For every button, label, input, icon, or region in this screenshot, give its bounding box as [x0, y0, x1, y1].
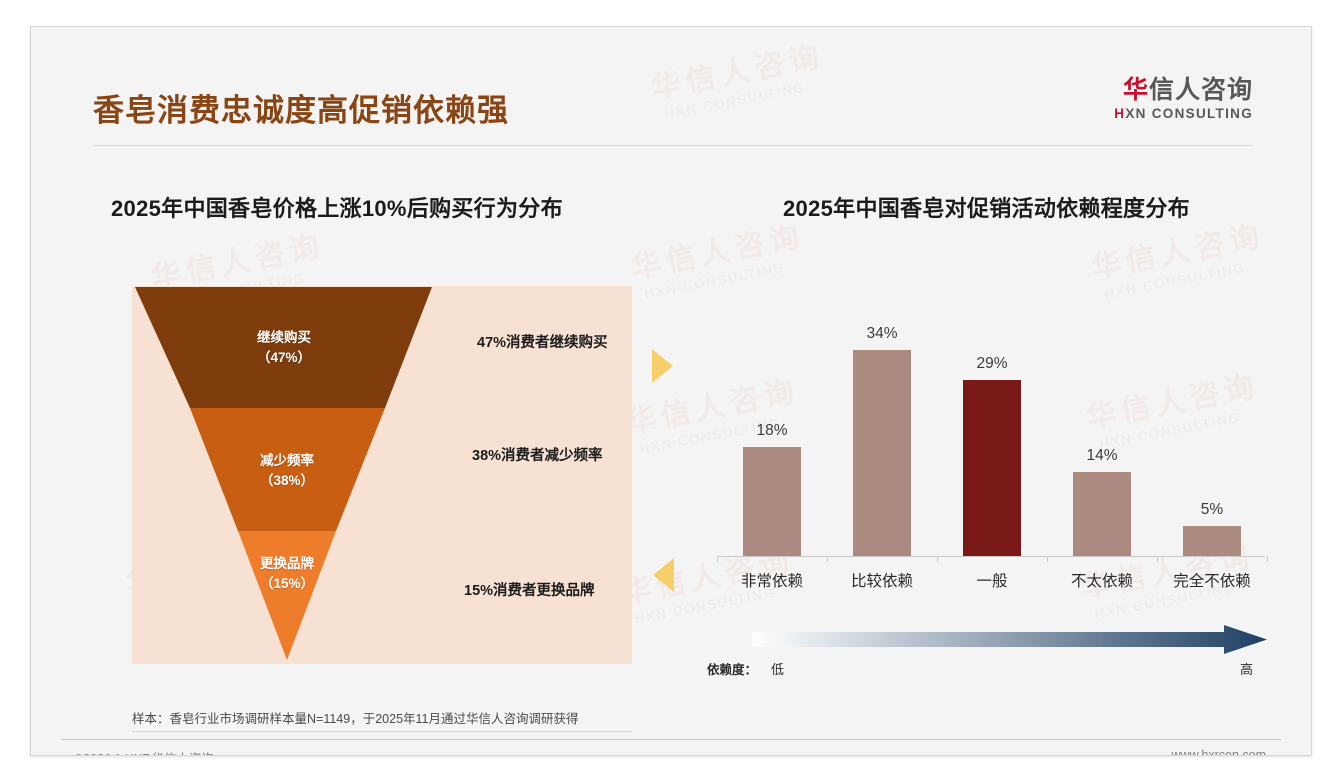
left-chart-title: 2025年中国香皂价格上涨10%后购买行为分布 [111, 191, 563, 223]
legend-low-label: 低 [771, 659, 784, 678]
dependency-bar-chart: 18%34%29%14%5% 非常依赖比较依赖一般不太依赖完全不依赖 [707, 313, 1267, 603]
watermark: 华信人咨询 HXN CONSULTING [647, 31, 830, 123]
legend-high-label: 高 [1240, 659, 1253, 678]
right-chart-title: 2025年中国香皂对促销活动依赖程度分布 [783, 191, 1190, 223]
logo-en-rest: XN CONSULTING [1125, 106, 1253, 121]
bar-value-label: 29% [976, 355, 1007, 373]
x-axis-tick [937, 556, 938, 562]
watermark-en: HXN CONSULTING [643, 255, 810, 302]
bar-column: 5% [1157, 313, 1267, 557]
funnel-note-continue: 47%消费者继续购买 [477, 331, 608, 352]
funnel-segment-switch [238, 531, 336, 660]
footer-website: www.hxrcon.com [1172, 748, 1266, 756]
x-axis-tick [1267, 556, 1268, 562]
logo-cn-accent-char: 华 [1123, 76, 1149, 104]
footer-copyright: ©2026.1 HXR华信人咨询 [74, 748, 214, 756]
x-axis-label-一般: 一般 [932, 569, 1052, 591]
funnel-label-text: 减少频率 [187, 451, 387, 471]
legend-title: 依赖度： [707, 659, 757, 678]
x-axis-label-比较依赖: 比较依赖 [822, 569, 942, 591]
watermark-en: HXN CONSULTING [663, 75, 830, 122]
watermark-en: HXN CONSULTING [1103, 255, 1270, 302]
x-axis-tick [1047, 556, 1048, 562]
bar-完全不依赖[interactable] [1183, 526, 1241, 557]
funnel-label-value: （38%） [187, 471, 387, 491]
funnel-label-switch: 更换品牌 （15%） [187, 554, 387, 593]
x-axis-tick [1157, 556, 1158, 562]
watermark-cn: 华信人咨询 [647, 31, 827, 108]
funnel-label-value: （47%） [184, 348, 384, 368]
header-divider [93, 145, 1253, 146]
footnote-divider [132, 731, 632, 732]
watermark-cn: 华信人咨询 [627, 211, 807, 288]
funnel-label-reduce: 减少频率 （38%） [187, 451, 387, 490]
company-logo: 华信人咨询 HXN CONSULTING [1114, 77, 1253, 121]
watermark: 华信人咨询 HXN CONSULTING [627, 211, 810, 303]
arrow-right-icon [652, 349, 673, 383]
funnel-label-text: 继续购买 [184, 328, 384, 348]
x-axis-tick [827, 556, 828, 562]
page-title: 香皂消费忠诚度高促销依赖强 [93, 85, 509, 130]
bar-比较依赖[interactable] [853, 350, 911, 557]
bar-value-label: 14% [1086, 447, 1117, 465]
arrow-left-icon [653, 558, 674, 592]
gradient-arrow-shape [752, 625, 1267, 655]
funnel-note-reduce: 38%消费者减少频率 [472, 444, 603, 465]
x-axis-label-非常依赖: 非常依赖 [712, 569, 832, 591]
x-axis-line [717, 556, 1265, 557]
bar-column: 29% [937, 313, 1047, 557]
slide-canvas: 华信人咨询 HXN CONSULTING 华信人咨询 HXN CONSULTIN… [30, 26, 1312, 756]
bar-value-label: 5% [1201, 501, 1223, 519]
bar-value-label: 34% [866, 325, 897, 343]
footer-divider [61, 739, 1281, 740]
funnel-label-text: 更换品牌 [187, 554, 387, 574]
bar-column: 34% [827, 313, 937, 557]
gradient-arrow [752, 625, 1267, 655]
logo-english-text: HXN CONSULTING [1114, 106, 1253, 121]
logo-cn-rest: 信人咨询 [1149, 76, 1253, 104]
bar-plot-area: 18%34%29%14%5% [717, 313, 1267, 557]
funnel-chart: 继续购买 （47%） 减少频率 （38%） 更换品牌 （15%） 47%消费者继… [132, 286, 632, 664]
bar-一般[interactable] [963, 380, 1021, 557]
bar-不太依赖[interactable] [1073, 472, 1131, 557]
x-axis-label-不太依赖: 不太依赖 [1042, 569, 1162, 591]
x-axis-tick [717, 556, 718, 562]
x-axis-label-完全不依赖: 完全不依赖 [1152, 569, 1272, 591]
source-footnote: 样本：香皂行业市场调研样本量N=1149，于2025年11月通过华信人咨询调研获… [132, 708, 579, 727]
logo-chinese-text: 华信人咨询 [1114, 77, 1253, 103]
funnel-note-switch: 15%消费者更换品牌 [464, 579, 595, 600]
dependency-gradient-legend: 依赖度： 低 高 [707, 625, 1267, 677]
bar-column: 14% [1047, 313, 1157, 557]
funnel-label-value: （15%） [187, 574, 387, 594]
bar-非常依赖[interactable] [743, 447, 801, 557]
watermark: 华信人咨询 HXN CONSULTING [1087, 211, 1270, 303]
bar-column: 18% [717, 313, 827, 557]
logo-en-accent-char: H [1114, 106, 1125, 121]
funnel-label-continue: 继续购买 （47%） [184, 328, 384, 367]
bar-value-label: 18% [756, 422, 787, 440]
